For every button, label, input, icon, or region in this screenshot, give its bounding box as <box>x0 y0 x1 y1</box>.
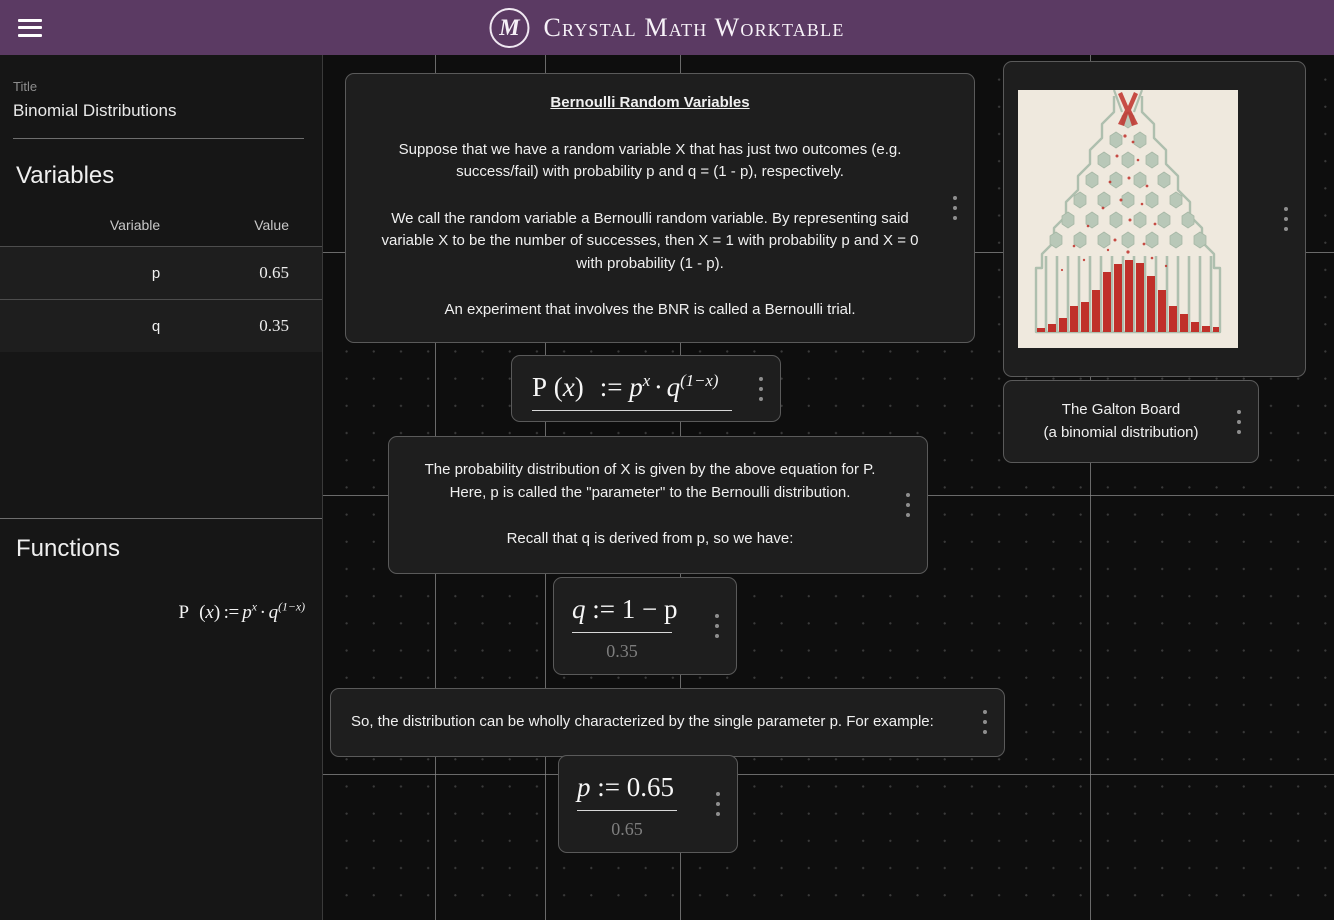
equation-fn-name: P <box>532 372 547 402</box>
cell-variable-name: p <box>0 247 193 300</box>
kebab-dot <box>906 513 910 517</box>
caption-line: (a binomial distribution) <box>1024 422 1218 445</box>
table-row[interactable]: q 0.35 <box>0 300 322 353</box>
card-p-function[interactable]: P (x) := px·q(1−x) <box>511 355 781 422</box>
equation-rhs: 1 − p <box>622 594 678 624</box>
card-galton-caption[interactable]: The Galton Board (a binomial distributio… <box>1003 380 1259 463</box>
note-paragraph: We call the random variable a Bernoulli … <box>370 208 930 276</box>
kebab-dot <box>1237 410 1241 414</box>
kebab-dot <box>953 216 957 220</box>
paragraph-gap <box>370 184 930 208</box>
kebab-dot <box>1284 227 1288 231</box>
caption-text: The Galton Board (a binomial distributio… <box>1024 399 1218 444</box>
equation-base-2: q <box>667 372 681 402</box>
kebab-dot <box>716 792 720 796</box>
function-list-item[interactable]: P (x):=px·q(1−x) <box>0 564 323 624</box>
function-assign: := <box>220 602 242 623</box>
app-header: M Crystal Math Worktable <box>0 0 1334 55</box>
kebab-dot <box>716 802 720 806</box>
kebab-dot <box>759 387 763 391</box>
cell-variable-value: 0.65 <box>193 247 322 300</box>
cell-variable-name: q <box>0 300 193 353</box>
note-line: The probability distribution of X is giv… <box>413 459 887 482</box>
kebab-dot <box>983 720 987 724</box>
note-text: So, the distribution can be wholly chara… <box>351 711 960 734</box>
hamburger-menu-icon[interactable] <box>18 19 42 37</box>
brand: M Crystal Math Worktable <box>489 8 844 48</box>
sidebar: Title Binomial Distributions Variables V… <box>0 55 323 920</box>
equation-assign-op: := <box>597 772 620 802</box>
column-header-variable: Variable <box>0 217 193 247</box>
kebab-dot <box>1284 217 1288 221</box>
logo-icon: M <box>489 8 529 48</box>
note-line: Here, p is called the "parameter" to the… <box>413 482 887 505</box>
card-characterization-note[interactable]: So, the distribution can be wholly chara… <box>330 688 1005 757</box>
functions-section: Functions P (x):=px·q(1−x) <box>0 520 323 624</box>
cell-variable-value: 0.35 <box>193 300 322 353</box>
kebab-dot <box>1284 207 1288 211</box>
kebab-dot <box>1237 420 1241 424</box>
equation-input-underline[interactable] <box>532 410 732 411</box>
equation-rhs: 0.65 <box>627 772 674 802</box>
kebab-dot <box>715 614 719 618</box>
kebab-dot <box>983 730 987 734</box>
equation-fn-arg: x <box>563 372 575 402</box>
kebab-menu-icon[interactable] <box>752 377 770 401</box>
kebab-dot <box>953 206 957 210</box>
variables-table: Variable Value p 0.65 q 0.35 <box>0 217 322 352</box>
equation-expression: P (x) := px·q(1−x) <box>532 370 728 404</box>
card-q-definition[interactable]: q := 1 − p 0.35 <box>553 577 737 675</box>
equation-dot-operator: · <box>650 372 667 402</box>
galton-board-illustration <box>1018 90 1238 348</box>
function-base2: q <box>269 602 279 623</box>
equation-lhs: p <box>577 772 591 802</box>
note-text: Bernoulli Random Variables Suppose that … <box>370 92 930 322</box>
app-title: Crystal Math Worktable <box>543 13 844 43</box>
hamburger-bar <box>18 19 42 22</box>
kebab-dot <box>953 196 957 200</box>
note-title: Bernoulli Random Variables <box>370 92 930 115</box>
paragraph-gap <box>413 504 887 528</box>
hamburger-bar <box>18 26 42 29</box>
kebab-menu-icon[interactable] <box>708 614 726 638</box>
equation-assign-op: := <box>600 372 623 402</box>
card-distribution-note[interactable]: The probability distribution of X is giv… <box>388 436 928 574</box>
function-dot: · <box>257 602 269 623</box>
equation-result-value: 0.35 <box>572 633 672 662</box>
functions-heading: Functions <box>0 520 323 564</box>
kebab-dot <box>906 503 910 507</box>
column-header-value: Value <box>193 217 322 247</box>
title-field-label: Title <box>13 77 304 97</box>
kebab-dot <box>716 812 720 816</box>
function-exp2: (1−x) <box>278 601 305 614</box>
kebab-menu-icon[interactable] <box>946 196 964 220</box>
function-base1: p <box>242 602 252 623</box>
function-arg: x <box>205 602 213 623</box>
kebab-menu-icon[interactable] <box>1277 207 1295 231</box>
note-line: Recall that q is derived from p, so we h… <box>413 528 887 551</box>
variables-heading: Variables <box>0 139 322 191</box>
hamburger-bar <box>18 34 42 37</box>
worktable-canvas[interactable]: Bernoulli Random Variables Suppose that … <box>323 55 1334 920</box>
note-paragraph: Suppose that we have a random variable X… <box>370 139 930 184</box>
equation-base-1: p <box>629 372 643 402</box>
table-row[interactable]: p 0.65 <box>0 247 322 300</box>
equation-exponent-1: x <box>643 371 650 390</box>
gridline-horizontal <box>323 774 1334 775</box>
caption-line: The Galton Board <box>1024 399 1218 422</box>
table-header-row: Variable Value <box>0 217 322 247</box>
functions-divider <box>0 518 323 519</box>
card-galton-image[interactable] <box>1003 61 1306 377</box>
kebab-dot <box>715 634 719 638</box>
equation-result-value: 0.65 <box>577 811 677 840</box>
kebab-menu-icon[interactable] <box>976 710 994 734</box>
card-bernoulli-note[interactable]: Bernoulli Random Variables Suppose that … <box>345 73 975 343</box>
kebab-dot <box>759 377 763 381</box>
paragraph-gap <box>370 275 930 299</box>
kebab-dot <box>715 624 719 628</box>
app-root: M Crystal Math Worktable Title Binomial … <box>0 0 1334 920</box>
kebab-menu-icon[interactable] <box>899 493 917 517</box>
kebab-menu-icon[interactable] <box>1230 410 1248 434</box>
kebab-dot <box>759 397 763 401</box>
title-field-value[interactable]: Binomial Distributions <box>13 98 304 124</box>
equation-assign-op: := <box>592 594 615 624</box>
sidebar-title-block: Title Binomial Distributions <box>0 55 322 139</box>
kebab-dot <box>1237 430 1241 434</box>
logo-letter: M <box>499 15 519 41</box>
equation-expression: p := 0.65 <box>577 770 689 804</box>
kebab-dot <box>983 710 987 714</box>
note-text: The probability distribution of X is giv… <box>413 459 887 551</box>
kebab-menu-icon[interactable] <box>709 792 727 816</box>
function-name: P <box>178 602 189 623</box>
equation-lhs: q <box>572 594 586 624</box>
equation-exponent-2: (1−x) <box>680 371 718 390</box>
note-paragraph: An experiment that involves the BNR is c… <box>370 299 930 322</box>
equation-expression: q := 1 − p <box>572 592 688 626</box>
card-p-definition[interactable]: p := 0.65 0.65 <box>558 755 738 853</box>
kebab-dot <box>906 493 910 497</box>
